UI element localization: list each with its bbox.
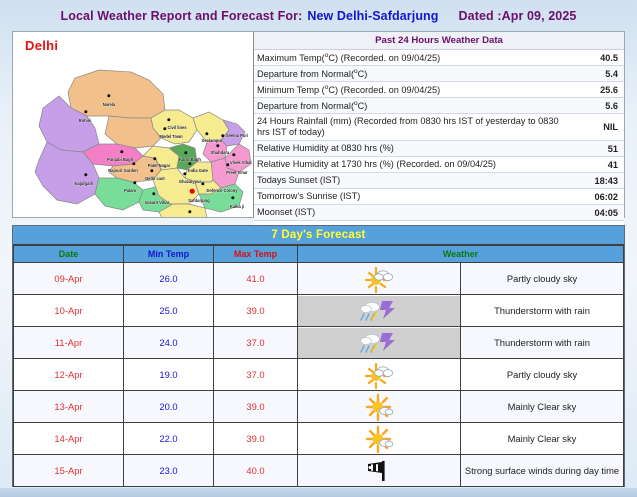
title-dated: Dated :Apr 09, 2025: [459, 9, 577, 23]
forecast-table: Date Min Temp Max Temp Weather 09-Apr26.…: [13, 245, 624, 487]
label-part-1: Maximum Temp(: [257, 53, 325, 63]
map-label-model-town: Model Town: [159, 134, 182, 139]
weather-data-label: Minimum Temp (oC) (Recorded. on 09/04/25…: [257, 83, 572, 97]
map-label-karol-bagh: Karol Bagh: [179, 157, 201, 162]
weather-data-label: Tomorrow's Sunrise (IST): [257, 190, 572, 203]
map-label-india-gate: India Gate: [188, 168, 208, 173]
forecast-max-temp: 39.0: [214, 391, 298, 423]
forecast-panel: 7 Day's Forecast Date Min Temp Max Temp …: [12, 225, 625, 487]
map-label-kalka-ji: Kalka ji: [230, 204, 244, 209]
forecast-date: 15-Apr: [14, 455, 124, 487]
sun-cloud-icon: [298, 360, 460, 390]
weather-data-value: 40.5: [572, 53, 618, 63]
forecast-min-temp: 20.0: [124, 391, 214, 423]
weather-data-value: 04:05: [572, 208, 618, 218]
forecast-description: Mainly Clear sky: [461, 391, 624, 423]
weather-data-label: Relative Humidity at 0830 hrs (%): [257, 142, 572, 155]
forecast-date: 12-Apr: [14, 359, 124, 391]
bottom-strip: [0, 488, 637, 497]
weather-data-row: Todays Sunset (IST)18:43: [254, 173, 624, 189]
map-label-rajouri-garden: Rajouri Garden: [108, 168, 138, 173]
weather-data-label: Relative Humidity at 1730 hrs (%) (Recor…: [257, 158, 572, 171]
weather-data-value: 41: [572, 160, 618, 170]
weather-data-row: Moonset (IST)04:05: [254, 205, 624, 221]
sun-small-cloud-icon: [298, 392, 460, 422]
sun-cloud-icon: [298, 264, 460, 294]
forecast-title: 7 Day's Forecast: [13, 226, 624, 245]
past-24h-table: Past 24 Hours Weather Data Maximum Temp(…: [254, 32, 624, 217]
label-part-2: C) (Recorded. on 09/04/25): [328, 85, 440, 95]
forecast-weather-icon-cell: [298, 359, 461, 391]
weather-data-value: 5.6: [572, 101, 618, 111]
weather-data-label: Moonset (IST): [257, 206, 572, 219]
weather-data-value: 5.4: [572, 69, 618, 79]
forecast-row: 15-Apr23.040.0Strong surface winds durin…: [14, 455, 624, 487]
sun-small-cloud-icon: [298, 424, 460, 454]
delhi-map: Delhi: [13, 32, 254, 217]
map-label-preet-vihar: Preet Vihar: [226, 170, 248, 175]
forecast-weather-icon-cell: [298, 391, 461, 423]
title-prefix: Local Weather Report and Forecast For:: [61, 9, 303, 23]
map-label-narela: Narela: [103, 102, 116, 107]
weather-data-label: Maximum Temp(oC) (Recorded. on 09/04/25): [257, 51, 572, 65]
map-label-delhi-cant: Delhi cant: [145, 176, 165, 181]
weather-data-row: Maximum Temp(oC) (Recorded. on 09/04/25)…: [254, 50, 624, 66]
forecast-description: Thunderstorm with rain: [461, 295, 624, 327]
column-header-date: Date: [14, 246, 124, 263]
forecast-min-temp: 19.0: [124, 359, 214, 391]
weather-data-value: NIL: [572, 122, 618, 132]
thunderstorm-icon: [298, 296, 460, 326]
forecast-description: Partly cloudy sky: [461, 359, 624, 391]
weather-data-row: Departure from Normal(oC)5.4: [254, 66, 624, 82]
weather-data-row: Departure from Normal(oC)5.6: [254, 98, 624, 114]
forecast-max-temp: 39.0: [214, 295, 298, 327]
map-label-patel-nagar: Patel Nagar: [148, 163, 171, 168]
forecast-row: 12-Apr19.037.0Partly cloudy sky: [14, 359, 624, 391]
map-heading: Delhi: [25, 38, 58, 53]
forecast-date: 10-Apr: [14, 295, 124, 327]
forecast-max-temp: 37.0: [214, 359, 298, 391]
map-marker-safdarjung: [190, 189, 195, 194]
forecast-description: Mainly Clear sky: [461, 423, 624, 455]
forecast-min-temp: 23.0: [124, 455, 214, 487]
map-label-civil-lines: Civil lines: [167, 125, 186, 130]
weather-data-label: Todays Sunset (IST): [257, 174, 572, 187]
map-label-punjabi-bagh: Punjabi Bagh: [107, 157, 133, 162]
map-label-rohini: Rohini: [79, 118, 92, 123]
forecast-min-temp: 22.0: [124, 423, 214, 455]
label-part-2: C): [358, 101, 368, 111]
label-part-1: Minimum Temp (: [257, 85, 325, 95]
map-label-defence-colony: Defence Colony: [207, 188, 238, 193]
map-label-vasant-vihar: Vasant Vihar: [145, 200, 170, 205]
weather-data-row: Relative Humidity at 0830 hrs (%)51: [254, 141, 624, 157]
forecast-row: 14-Apr22.039.0Mainly Clear sky: [14, 423, 624, 455]
forecast-description: Strong surface winds during day time: [461, 455, 624, 487]
map-label-palam: Palam: [124, 188, 136, 193]
forecast-row: 13-Apr20.039.0Mainly Clear sky: [14, 391, 624, 423]
weather-data-row: 24 Hours Rainfall (mm) (Recorded from 08…: [254, 114, 624, 141]
weather-data-row: Minimum Temp (oC) (Recorded. on 09/04/25…: [254, 82, 624, 98]
map-label-safdarjung: Safdarjung: [188, 198, 209, 203]
column-header-min: Min Temp: [124, 246, 214, 263]
forecast-max-temp: 37.0: [214, 327, 298, 359]
weather-data-value: 18:43: [572, 176, 618, 186]
forecast-max-temp: 41.0: [214, 263, 298, 295]
forecast-date: 14-Apr: [14, 423, 124, 455]
past-24h-heading: Past 24 Hours Weather Data: [254, 32, 624, 50]
forecast-max-temp: 40.0: [214, 455, 298, 487]
forecast-date: 09-Apr: [14, 263, 124, 295]
column-header-weather: Weather: [298, 246, 624, 263]
forecast-description: Partly cloudy sky: [461, 263, 624, 295]
map-label-seelampur: Seelampur: [202, 138, 223, 143]
weather-data-label: 24 Hours Rainfall (mm) (Recorded from 08…: [257, 115, 572, 139]
weather-data-value: 51: [572, 144, 618, 154]
forecast-weather-icon-cell: [298, 263, 461, 295]
title-station: New Delhi-Safdarjung: [307, 9, 438, 23]
map-label-vivek-vihar: Vivek Vihar: [230, 160, 252, 165]
top-panel: Delhi: [12, 31, 625, 218]
map-label-seema-puri: Seema Puri: [226, 133, 248, 138]
forecast-min-temp: 26.0: [124, 263, 214, 295]
forecast-weather-icon-cell: [298, 295, 461, 327]
forecast-min-temp: 24.0: [124, 327, 214, 359]
label-part-2: C): [358, 69, 368, 79]
forecast-header-row: Date Min Temp Max Temp Weather: [14, 246, 624, 263]
forecast-row: 11-Apr24.037.0Thunderstorm with rain: [14, 327, 624, 359]
weather-data-value: 25.6: [572, 85, 618, 95]
page-title: Local Weather Report and Forecast For: N…: [0, 0, 637, 26]
forecast-body: 09-Apr26.041.0Partly cloudy sky10-Apr25.…: [14, 263, 624, 487]
weather-data-value: 06:02: [572, 192, 618, 202]
forecast-date: 11-Apr: [14, 327, 124, 359]
forecast-row: 10-Apr25.039.0Thunderstorm with rain: [14, 295, 624, 327]
label-part-1: Departure from Normal(: [257, 69, 354, 79]
forecast-date: 13-Apr: [14, 391, 124, 423]
weather-data-row: Relative Humidity at 1730 hrs (%) (Recor…: [254, 157, 624, 173]
weather-data-label: Departure from Normal(oC): [257, 67, 572, 81]
map-label-najafgarh: Najafgarh: [75, 181, 94, 186]
map-label-shahdara: Shahdara: [211, 150, 230, 155]
past-24h-rows: Maximum Temp(oC) (Recorded. on 09/04/25)…: [254, 50, 624, 237]
thunderstorm-icon: [298, 328, 460, 358]
forecast-row: 09-Apr26.041.0Partly cloudy sky: [14, 263, 624, 295]
column-header-max: Max Temp: [214, 246, 298, 263]
forecast-weather-icon-cell: [298, 327, 461, 359]
label-part-2: C) (Recorded. on 09/04/25): [328, 53, 440, 63]
label-part-1: Departure from Normal(: [257, 101, 354, 111]
windsock-icon: [298, 456, 460, 486]
forecast-description: Thunderstorm with rain: [461, 327, 624, 359]
map-label-ghazaiypur: Ghazaiypur: [179, 179, 201, 184]
weather-data-label: Departure from Normal(oC): [257, 99, 572, 113]
forecast-max-temp: 39.0: [214, 423, 298, 455]
weather-data-row: Tomorrow's Sunrise (IST)06:02: [254, 189, 624, 205]
forecast-min-temp: 25.0: [124, 295, 214, 327]
forecast-weather-icon-cell: [298, 423, 461, 455]
forecast-weather-icon-cell: [298, 455, 461, 487]
